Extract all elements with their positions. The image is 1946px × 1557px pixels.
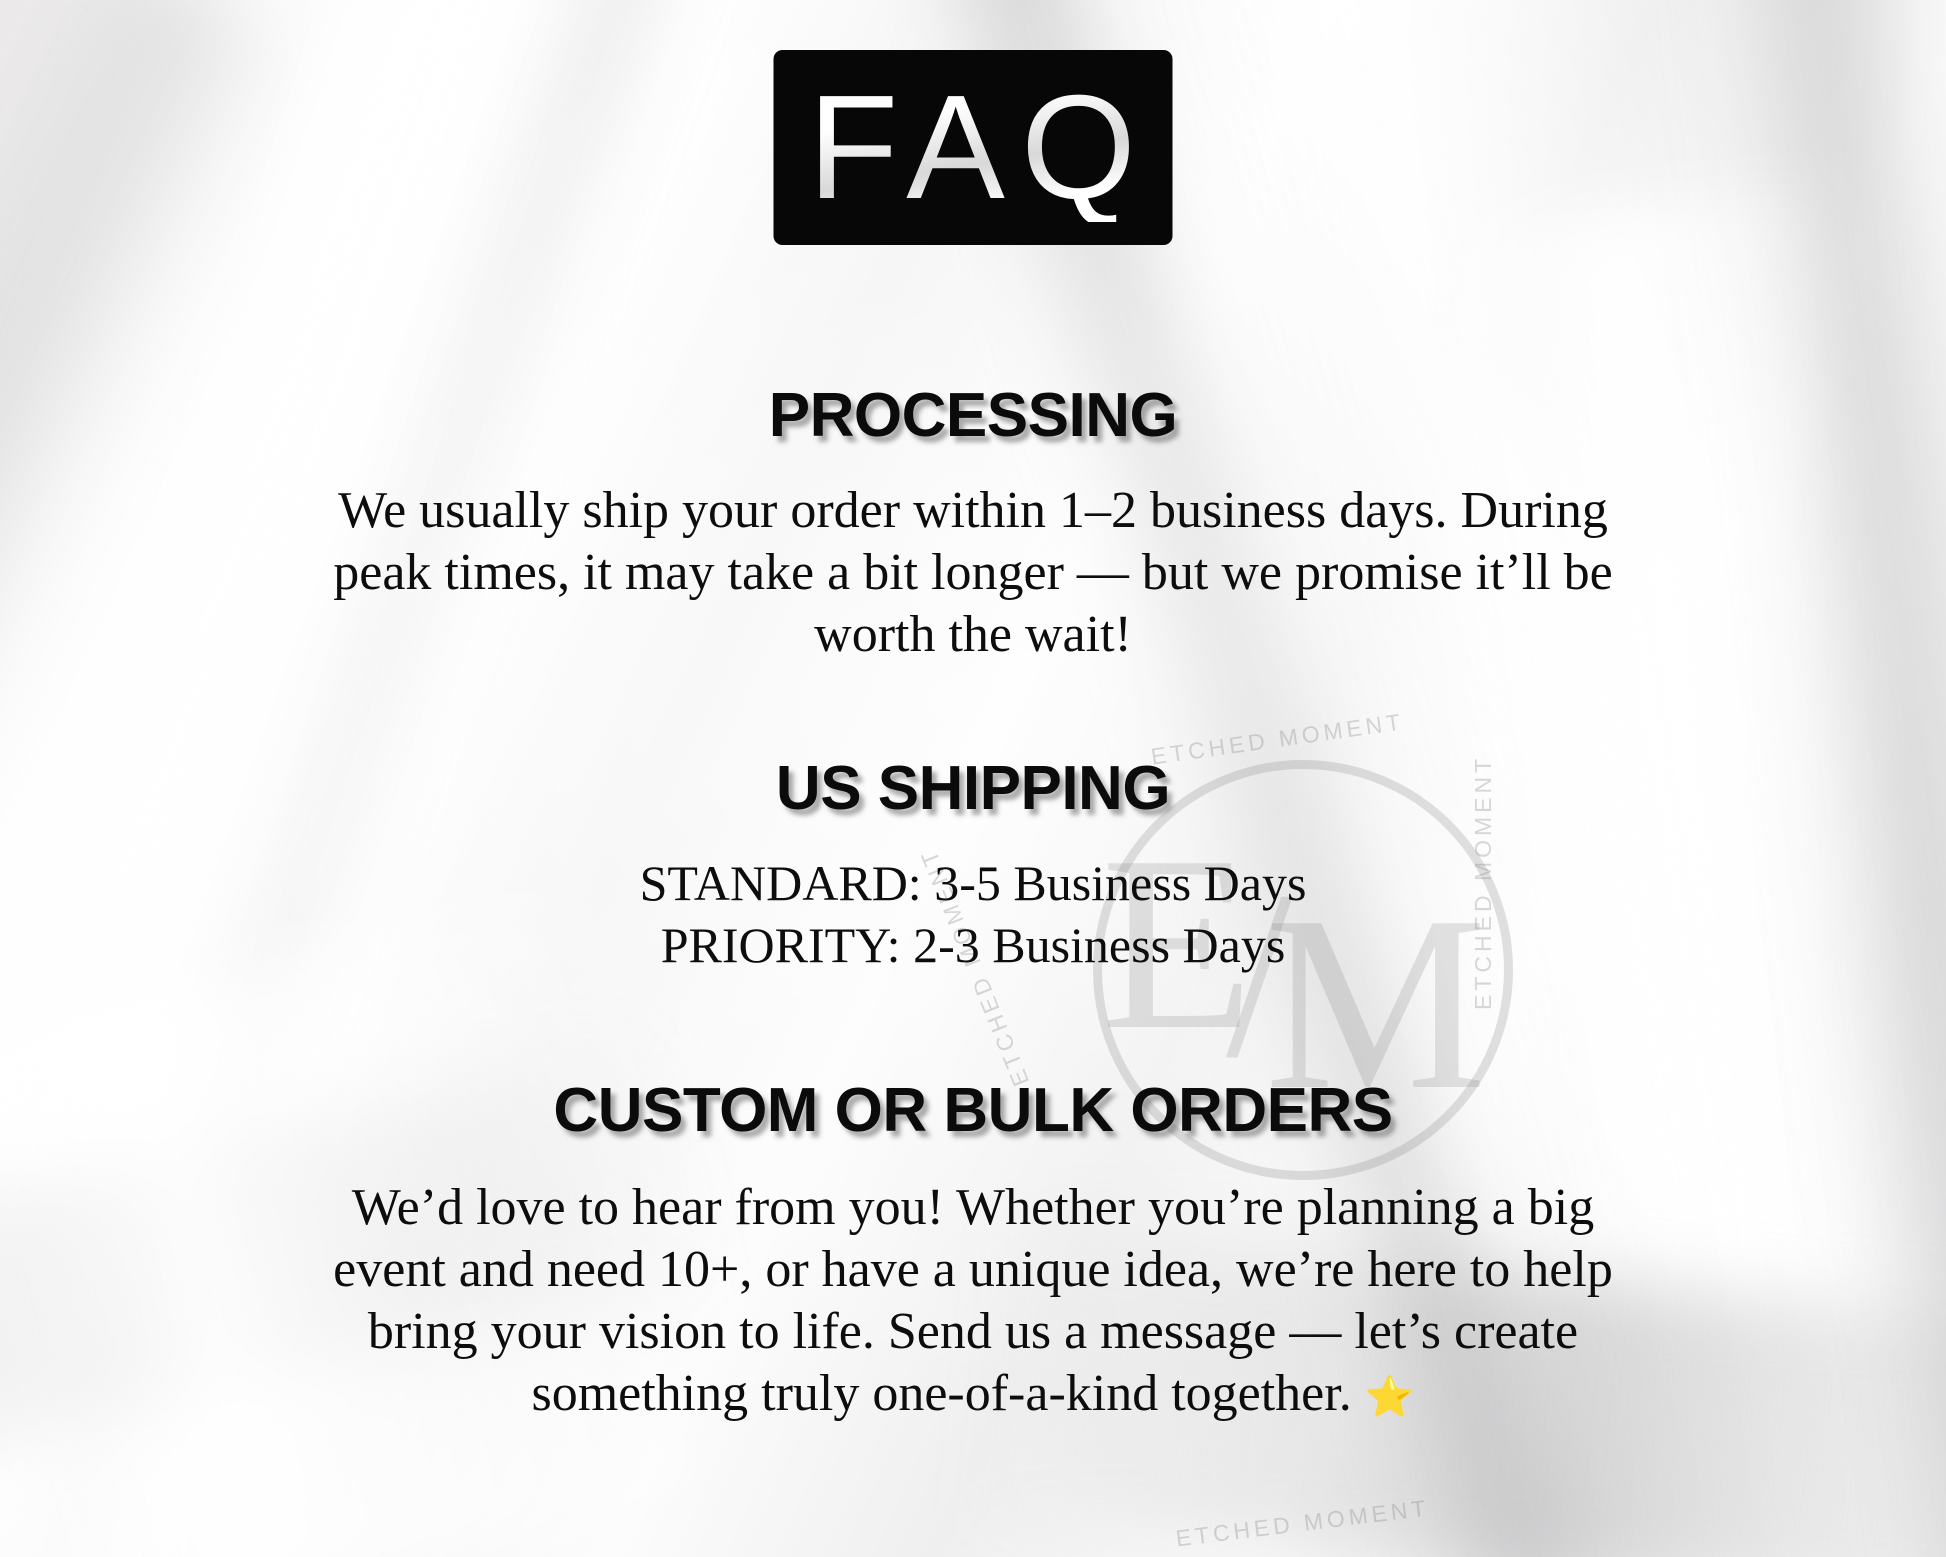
section-heading-custom-bulk-orders: CUSTOM OR BULK ORDERS <box>0 1078 1946 1143</box>
section-body-custom-bulk-orders: We’d love to hear from you! Whether you’… <box>298 1177 1648 1425</box>
shipping-option-standard: STANDARD: 3-5 Business Days <box>0 853 1946 915</box>
section-heading-processing: PROCESSING <box>0 383 1946 448</box>
faq-content: FAQ PROCESSING We usually ship your orde… <box>0 0 1946 1557</box>
shipping-options: STANDARD: 3-5 Business Days PRIORITY: 2-… <box>0 853 1946 976</box>
faq-badge-label: FAQ <box>794 74 1152 222</box>
faq-infographic: E/M ETCHED MOMENT ETCHED MOMENT ETCHED M… <box>0 0 1946 1557</box>
faq-badge: FAQ <box>774 50 1173 245</box>
section-custom-bulk-orders: CUSTOM OR BULK ORDERS We’d love to hear … <box>0 1078 1946 1425</box>
shipping-option-priority: PRIORITY: 2-3 Business Days <box>0 915 1946 977</box>
section-body-processing: We usually ship your order within 1–2 bu… <box>298 480 1648 666</box>
custom-bulk-body-text: We’d love to hear from you! Whether you’… <box>333 1179 1613 1422</box>
section-processing: PROCESSING We usually ship your order wi… <box>0 383 1946 666</box>
star-icon: ⭐ <box>1365 1374 1415 1419</box>
section-heading-us-shipping: US SHIPPING <box>0 756 1946 821</box>
section-us-shipping: US SHIPPING STANDARD: 3-5 Business Days … <box>0 756 1946 976</box>
